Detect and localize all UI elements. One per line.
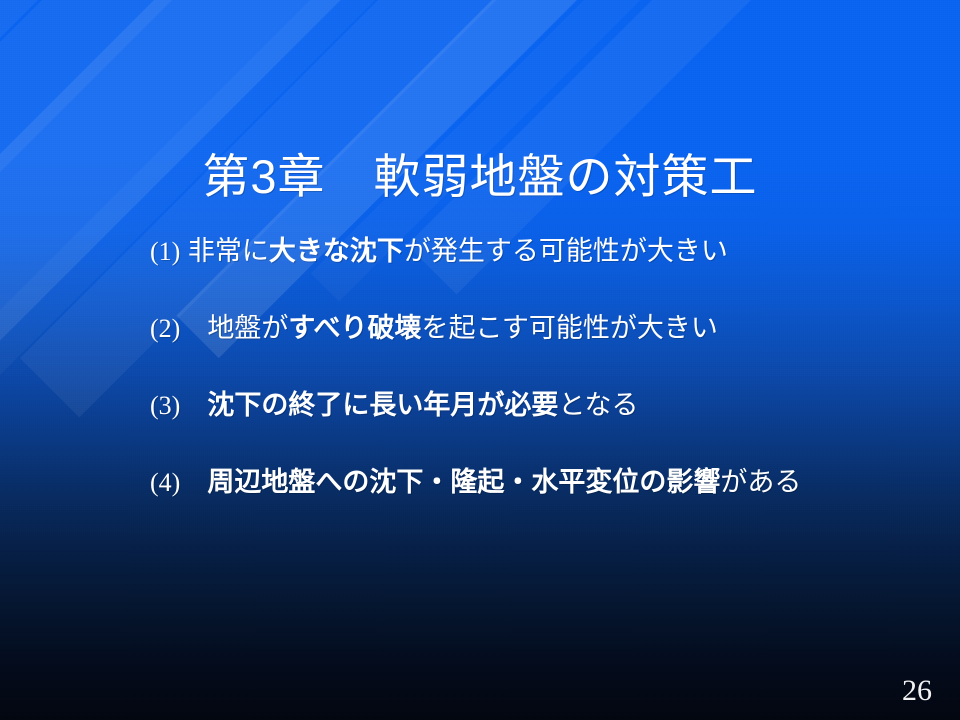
bullet-text: を起こす可能性が大きい (421, 313, 717, 343)
bullet-gap (180, 313, 207, 343)
bullet-text: 地盤が (207, 313, 288, 343)
slide-title: 第3章 軟弱地盤の対策工 (0, 153, 960, 200)
bullet-text: となる (558, 390, 638, 420)
bullet-text: 非常に (188, 236, 269, 266)
bullet-text-emphasis: 沈下の終了に長い年月が必要 (207, 390, 558, 420)
bullet-item: (1) 非常に大きな沈下が発生する可能性が大きい (150, 238, 940, 265)
bullet-marker: (3) (150, 391, 180, 420)
bullet-list: (1) 非常に大きな沈下が発生する可能性が大きい(2) 地盤がすべり破壊を起こす… (150, 238, 940, 496)
bullet-text-emphasis: 大きな沈下 (269, 236, 404, 266)
bullet-text-emphasis: 周辺地盤への沈下・隆起・水平変位の影響 (207, 467, 720, 497)
bullet-item: (3) 沈下の終了に長い年月が必要となる (150, 392, 940, 419)
bullet-marker: (2) (150, 314, 180, 343)
bullet-gap (180, 390, 207, 420)
bullet-marker: (4) (150, 468, 180, 497)
bullet-marker: (1) (150, 237, 180, 266)
bullet-text: が発生する可能性が大きい (404, 236, 728, 266)
bullet-gap (180, 467, 207, 497)
bullet-text-emphasis: すべり破壊 (288, 313, 421, 343)
bullet-text: がある (720, 467, 801, 497)
slide-content: 第3章 軟弱地盤の対策工 (1) 非常に大きな沈下が発生する可能性が大きい(2)… (0, 0, 960, 720)
bullet-item: (4) 周辺地盤への沈下・隆起・水平変位の影響がある (150, 469, 940, 496)
bullet-item: (2) 地盤がすべり破壊を起こす可能性が大きい (150, 315, 940, 342)
presentation-slide: 第3章 軟弱地盤の対策工 (1) 非常に大きな沈下が発生する可能性が大きい(2)… (0, 0, 960, 720)
page-number: 26 (902, 676, 932, 706)
bullet-gap (180, 236, 188, 266)
